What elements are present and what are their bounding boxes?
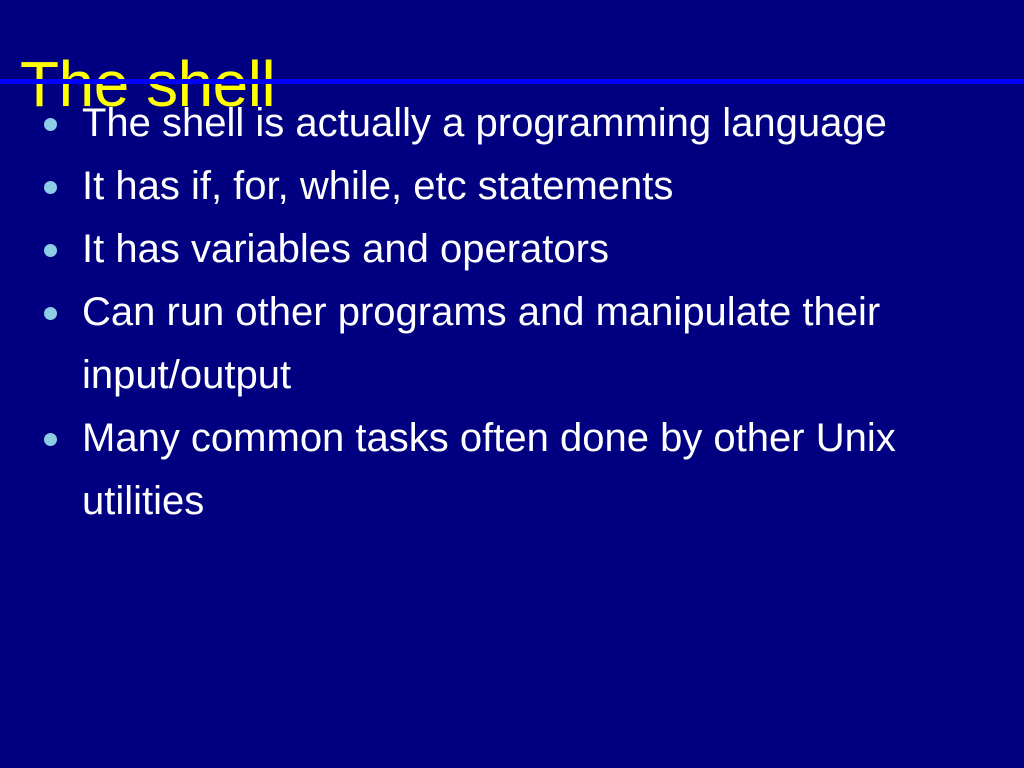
bullet-dot-icon — [44, 307, 57, 320]
bullet-dot-icon — [44, 433, 57, 446]
bullet-text: It has if, for, while, etc statements — [82, 155, 984, 218]
list-item: It has if, for, while, etc statements — [0, 155, 1024, 218]
bullet-text: Many common tasks often done by other Un… — [82, 407, 984, 533]
bullet-dot-icon — [44, 181, 57, 194]
title-divider-rule — [0, 79, 1024, 84]
list-item: Can run other programs and manipulate th… — [0, 281, 1024, 407]
presentation-slide: The shell The shell is actually a progra… — [0, 0, 1024, 768]
bullet-list: The shell is actually a programming lang… — [0, 92, 1024, 533]
bullet-text: It has variables and operators — [82, 218, 984, 281]
list-item: Many common tasks often done by other Un… — [0, 407, 1024, 533]
list-item: It has variables and operators — [0, 218, 1024, 281]
bullet-text: Can run other programs and manipulate th… — [82, 281, 984, 407]
bullet-dot-icon — [44, 244, 57, 257]
bullet-dot-icon — [44, 118, 57, 131]
list-item: The shell is actually a programming lang… — [0, 92, 1024, 155]
bullet-text: The shell is actually a programming lang… — [82, 92, 984, 155]
